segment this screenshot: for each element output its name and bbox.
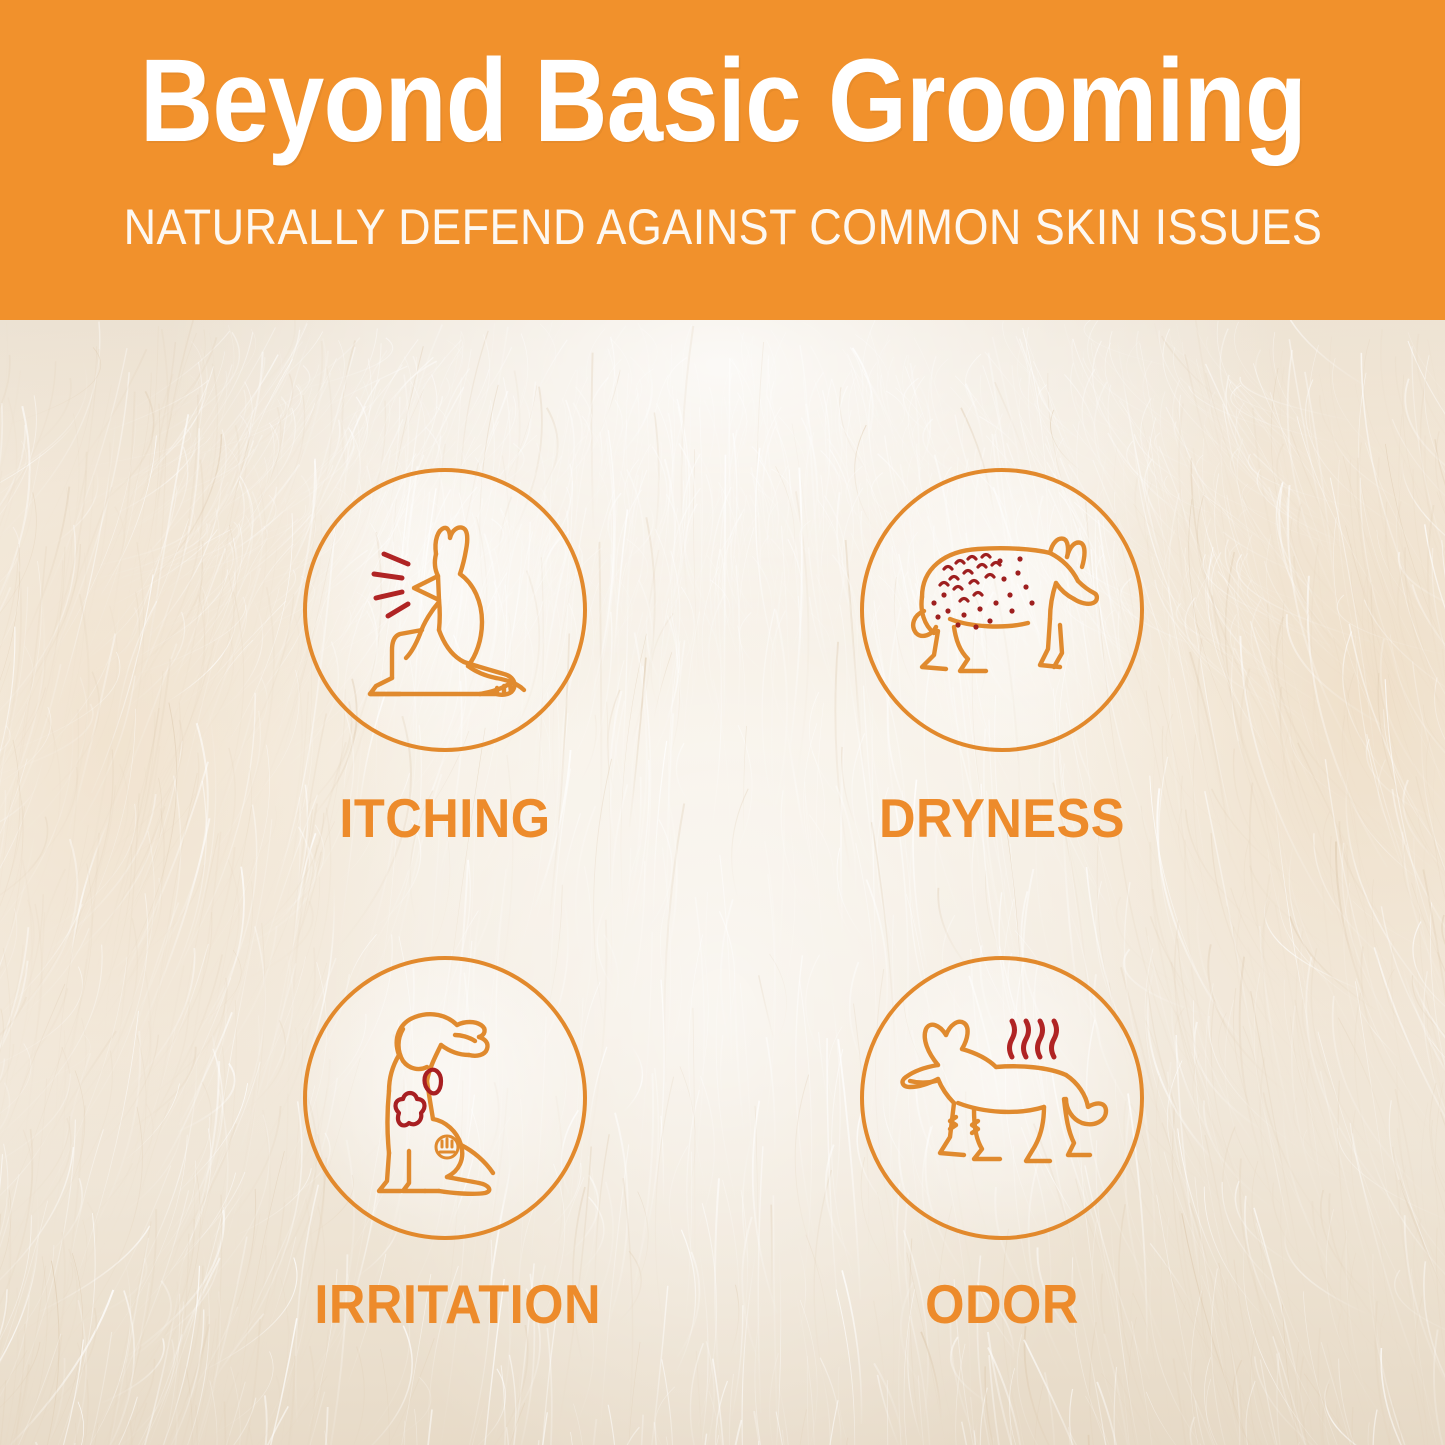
product-feature-infographic: Beyond Basic Grooming NATURALLY DEFEND A… — [0, 0, 1445, 1445]
feature-label-itching: ITCHING — [314, 786, 575, 850]
dog-odor-icon — [892, 1003, 1112, 1193]
feature-item-itching[interactable]: ITCHING — [303, 468, 587, 752]
feature-label-odor: ODOR — [871, 1272, 1132, 1336]
dog-irritated-skin-icon — [343, 995, 547, 1201]
feature-item-dryness[interactable]: DRYNESS — [860, 468, 1144, 752]
dog-flaky-skin-icon — [894, 515, 1110, 705]
icon-circle-itching — [303, 468, 587, 752]
icon-circle-irritation — [303, 956, 587, 1240]
feature-item-irritation[interactable]: IRRITATION — [303, 956, 587, 1240]
header-banner: Beyond Basic Grooming NATURALLY DEFEND A… — [0, 0, 1445, 320]
feature-item-odor[interactable]: ODOR — [860, 956, 1144, 1240]
icon-circle-dryness — [860, 468, 1144, 752]
icon-circle-odor — [860, 956, 1144, 1240]
feature-grid: ITCHING — [0, 320, 1445, 1445]
feature-label-dryness: DRYNESS — [871, 786, 1132, 850]
dog-scratching-icon — [340, 510, 550, 710]
page-title: Beyond Basic Grooming — [139, 42, 1305, 160]
feature-label-irritation: IRRITATION — [314, 1272, 575, 1336]
page-subtitle: NATURALLY DEFEND AGAINST COMMON SKIN ISS… — [123, 202, 1322, 252]
